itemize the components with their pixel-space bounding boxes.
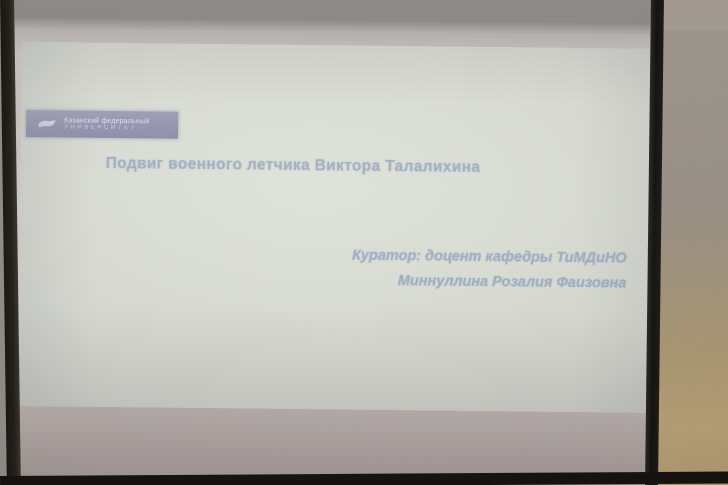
slide-title: Подвиг военного летчика Виктора Талалихи… (106, 155, 626, 179)
university-logo-text: Казанский федеральный УНИВЕРСИТЕТ (64, 117, 149, 132)
logo-line-2: УНИВЕРСИТЕТ (64, 124, 149, 131)
university-emblem-icon (36, 115, 58, 133)
presentation-slide: Казанский федеральный УНИВЕРСИТЕТ Подвиг… (18, 42, 654, 413)
subtitle-line-curator: Куратор: доцент кафедры ТиМДиНО (352, 244, 627, 272)
university-logo-banner: Казанский федеральный УНИВЕРСИТЕТ (26, 110, 178, 139)
subtitle-line-name: Миннуллина Розалия Фаизовна (352, 269, 627, 297)
projected-slide-photo: Казанский федеральный УНИВЕРСИТЕТ Подвиг… (0, 0, 728, 485)
slide-subtitle-block: Куратор: доцент кафедры ТиМДиНО Миннулли… (352, 244, 627, 297)
